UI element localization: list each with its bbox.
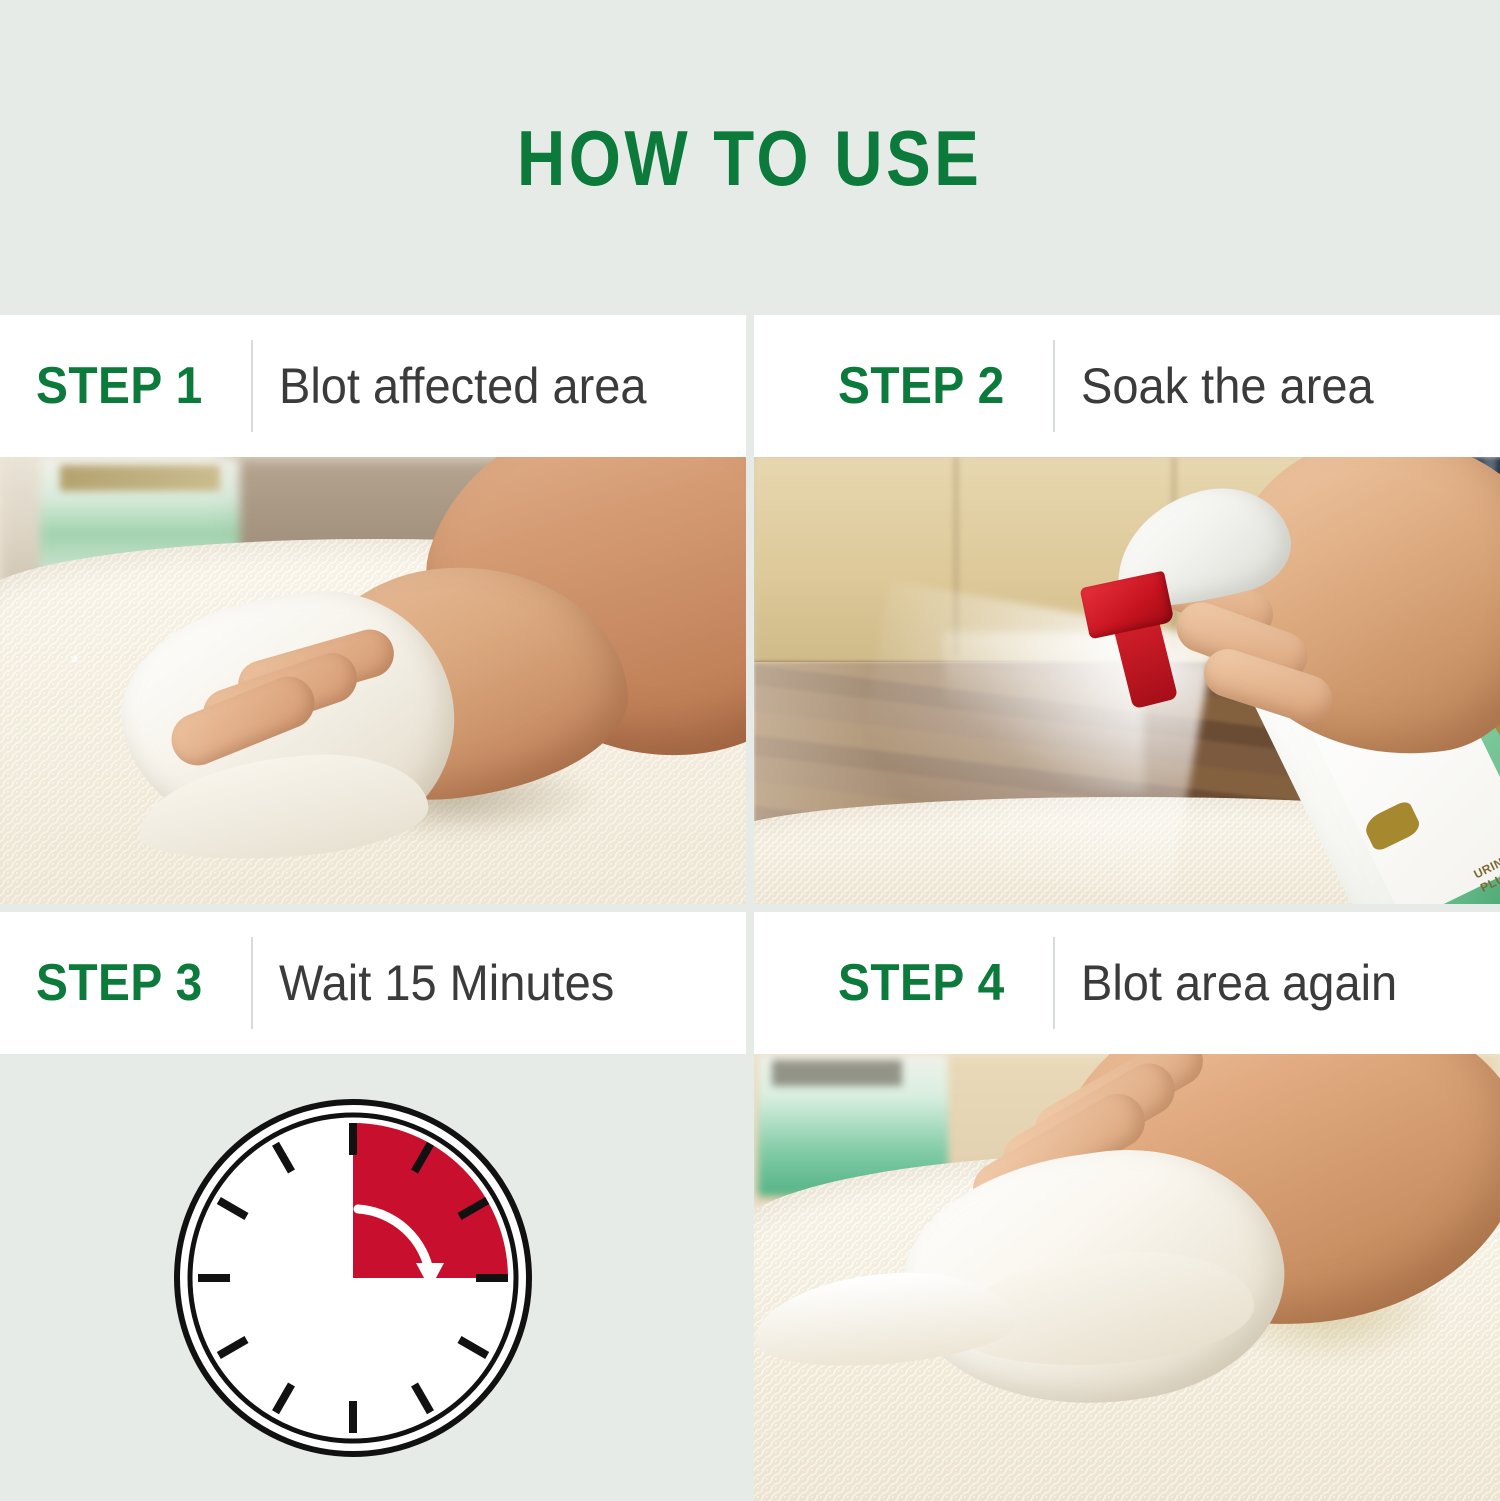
step-3-label-bar: STEP 3 Wait 15 Minutes (0, 912, 746, 1054)
bottle-label-blurred (60, 465, 220, 491)
step-3-illustration-area (0, 1054, 746, 1501)
step-panel-3: STEP 3 Wait 15 Minutes (0, 912, 746, 1501)
infographic-page: HOW TO USE STEP 1 Blot affected area (0, 0, 1500, 1500)
spray-mist-core (944, 632, 1144, 792)
step-3-number: STEP 3 (36, 957, 203, 1009)
step-1-label-bar: STEP 1 Blot affected area (0, 315, 746, 457)
step-3-text: Wait 15 Minutes (279, 958, 614, 1008)
step-panel-1: STEP 1 Blot affected area (0, 315, 746, 904)
step-2-label-bar: STEP 2 Soak the area (754, 315, 1500, 457)
step-2-photo: NATURE'S MIRACLE URINE DESTROYER Plus UR… (754, 457, 1500, 904)
page-title: HOW TO USE (517, 119, 982, 197)
step-1-number: STEP 1 (36, 360, 203, 412)
step-2-number: STEP 2 (838, 360, 1005, 412)
step-panel-4: STEP 4 Blot area again (754, 912, 1500, 1501)
clock-icon (168, 1093, 538, 1463)
bottle-label-blurred (772, 1060, 902, 1086)
header-band: HOW TO USE (0, 0, 1500, 315)
clock-wrapper (0, 1054, 746, 1501)
step-1-divider (251, 340, 253, 432)
step-4-text: Blot area again (1081, 958, 1397, 1008)
step-4-label-bar: STEP 4 Blot area again (754, 912, 1500, 1054)
step-panel-2: STEP 2 Soak the area (754, 315, 1500, 904)
step-4-divider (1053, 937, 1055, 1029)
row-gap (0, 904, 1500, 912)
step-3-divider (251, 937, 253, 1029)
step-1-photo (0, 457, 746, 904)
step-4-photo (754, 1054, 1500, 1501)
step-2-divider (1053, 340, 1055, 432)
step-1-text: Blot affected area (279, 361, 647, 411)
step-4-number: STEP 4 (838, 957, 1005, 1009)
step-2-text: Soak the area (1081, 361, 1374, 411)
steps-grid: STEP 1 Blot affected area (0, 315, 1500, 1500)
